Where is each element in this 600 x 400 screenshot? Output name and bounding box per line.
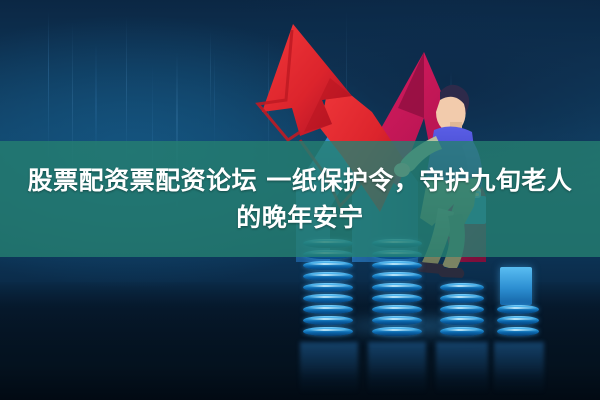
coin-shadow-3 xyxy=(436,342,488,394)
coin xyxy=(440,283,484,292)
shoe-front xyxy=(438,268,464,278)
coin xyxy=(303,272,353,281)
coin xyxy=(372,294,422,303)
coin xyxy=(440,294,484,303)
coin xyxy=(303,327,353,336)
coin-shadow-2 xyxy=(368,342,426,394)
caption-line-2: 的晚年安宁 xyxy=(236,201,364,235)
banner-image: 股票配资票配资论坛 一纸保护令，守护九旬老人 的晚年安宁 xyxy=(0,0,600,400)
coin xyxy=(303,261,353,270)
coin xyxy=(440,316,484,325)
coin xyxy=(497,305,539,314)
coin xyxy=(303,316,353,325)
caption-line-1: 股票配资票配资论坛 一纸保护令，守护九旬老人 xyxy=(28,164,573,198)
caption-text: 股票配资票配资论坛 一纸保护令，守护九旬老人 的晚年安宁 xyxy=(0,141,600,257)
coin xyxy=(372,261,422,270)
coin xyxy=(440,305,484,314)
coin-shadow-4 xyxy=(494,342,544,394)
coin-shadow-1 xyxy=(300,342,358,394)
coin xyxy=(372,272,422,281)
coin xyxy=(497,316,539,325)
coin xyxy=(497,327,539,336)
coin xyxy=(303,294,353,303)
coin xyxy=(440,327,484,336)
coin xyxy=(372,327,422,336)
coin xyxy=(372,305,422,314)
coin xyxy=(303,283,353,292)
coin-stack-3 xyxy=(440,283,484,338)
coin xyxy=(372,316,422,325)
coin-stack-4 xyxy=(497,305,539,338)
coin xyxy=(372,283,422,292)
coin xyxy=(303,305,353,314)
blue-note-card xyxy=(500,267,532,305)
